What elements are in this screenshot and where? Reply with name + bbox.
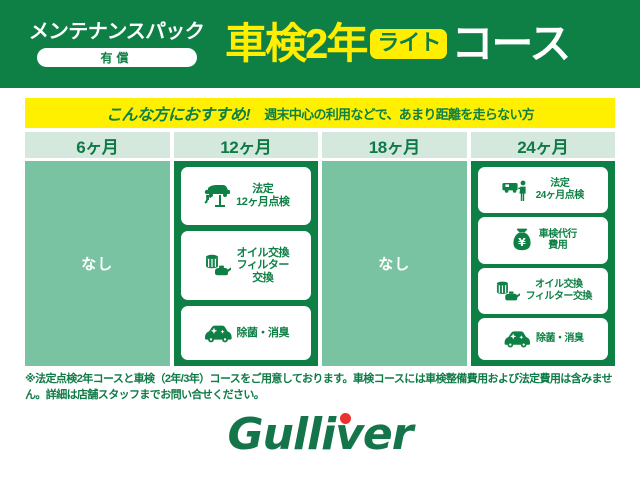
- service-card-sanitize-deodorize-12m[interactable]: 除菌・消臭: [181, 306, 312, 360]
- service-card-sanitize-deodorize-24m[interactable]: 除菌・消臭: [478, 318, 609, 361]
- service-card-label: オイル交換 フィルター 交換: [237, 247, 290, 285]
- paid-pill-label: 有償: [37, 48, 197, 67]
- svg-text:¥: ¥: [518, 236, 526, 249]
- table-column-18months: 18ヶ月 なし: [322, 132, 467, 366]
- column-header-24months: 24ヶ月: [471, 132, 616, 158]
- service-card-oil-filter-change-12m[interactable]: オイル交換 フィルター 交換: [181, 231, 312, 301]
- headline-group: 車検2年 ライト コース: [219, 23, 626, 65]
- service-card-legal-24month-inspection[interactable]: 法定 24ヶ月点検: [478, 167, 609, 213]
- car-sanitize-icon: [203, 322, 233, 344]
- oil-filter-change-icon: [494, 279, 522, 303]
- gulliver-logo: Gulliver: [228, 413, 413, 457]
- column-header-6months: 6ヶ月: [25, 132, 170, 158]
- service-card-label: オイル交換 フィルター交換: [526, 279, 592, 302]
- gulliver-logo-dot-icon: [340, 413, 351, 424]
- car-lift-inspection-icon: [202, 183, 232, 209]
- headline-inspection-2year: 車検2年: [225, 23, 366, 65]
- service-comparison-table: 6ヶ月 なし 12ヶ月: [25, 132, 615, 366]
- recommendation-note: 週末中心の利用などで、あまり距離を走らない方: [264, 104, 534, 123]
- recommendation-heading: こんな方におすすめ!: [106, 101, 250, 125]
- maintenance-pack-badge: メンテナンスパック 有償: [14, 22, 219, 67]
- gulliver-logo-text: Gulliver: [228, 409, 413, 460]
- service-card-label: 除菌・消臭: [536, 333, 584, 345]
- none-label-18months: なし: [378, 253, 410, 274]
- maintenance-pack-title: メンテナンスパック: [28, 22, 205, 42]
- money-bag-yen-icon: ¥: [509, 227, 535, 253]
- service-card-label: 法定 12ヶ月点検: [236, 183, 289, 208]
- column-body-6months: なし: [25, 161, 170, 366]
- table-column-6months: 6ヶ月 なし: [25, 132, 170, 366]
- column-header-18months: 18ヶ月: [322, 132, 467, 158]
- car-sanitize-icon: [502, 328, 532, 349]
- service-card-label: 法定 24ヶ月点検: [536, 178, 584, 201]
- car-inspection-agent-icon: [502, 178, 532, 202]
- headline-course: コース: [451, 23, 569, 65]
- table-column-24months: 24ヶ月: [471, 132, 616, 366]
- service-card-inspection-agency-fee[interactable]: ¥ 車検代行 費用: [478, 217, 609, 265]
- column-header-12months: 12ヶ月: [174, 132, 319, 158]
- headline-lite-badge: ライト: [370, 29, 447, 59]
- column-body-18months: なし: [322, 161, 467, 366]
- page-header: メンテナンスパック 有償 車検2年 ライト コース: [0, 0, 640, 88]
- service-card-legal-12month-inspection[interactable]: 法定 12ヶ月点検: [181, 167, 312, 225]
- oil-filter-change-icon: [203, 252, 233, 278]
- content-sheet: こんな方におすすめ! 週末中心の利用などで、あまり距離を走らない方 6ヶ月 なし…: [0, 88, 640, 404]
- disclaimer-text: ※法定点検2年コースと車検（2年/3年）コースをご用意しております。車検コースに…: [25, 366, 615, 404]
- service-card-label: 除菌・消臭: [237, 327, 290, 340]
- footer-logo-area: Gulliver: [0, 404, 640, 466]
- none-label-6months: なし: [81, 253, 113, 274]
- recommendation-banner: こんな方におすすめ! 週末中心の利用などで、あまり距離を走らない方: [25, 98, 615, 128]
- column-body-12months: 法定 12ヶ月点検: [174, 161, 319, 366]
- table-column-12months: 12ヶ月: [174, 132, 319, 366]
- service-card-oil-filter-change-24m[interactable]: オイル交換 フィルター交換: [478, 268, 609, 314]
- service-card-label: 車検代行 費用: [539, 229, 577, 252]
- column-body-24months: 法定 24ヶ月点検 ¥ 車検代行 費用: [471, 161, 616, 366]
